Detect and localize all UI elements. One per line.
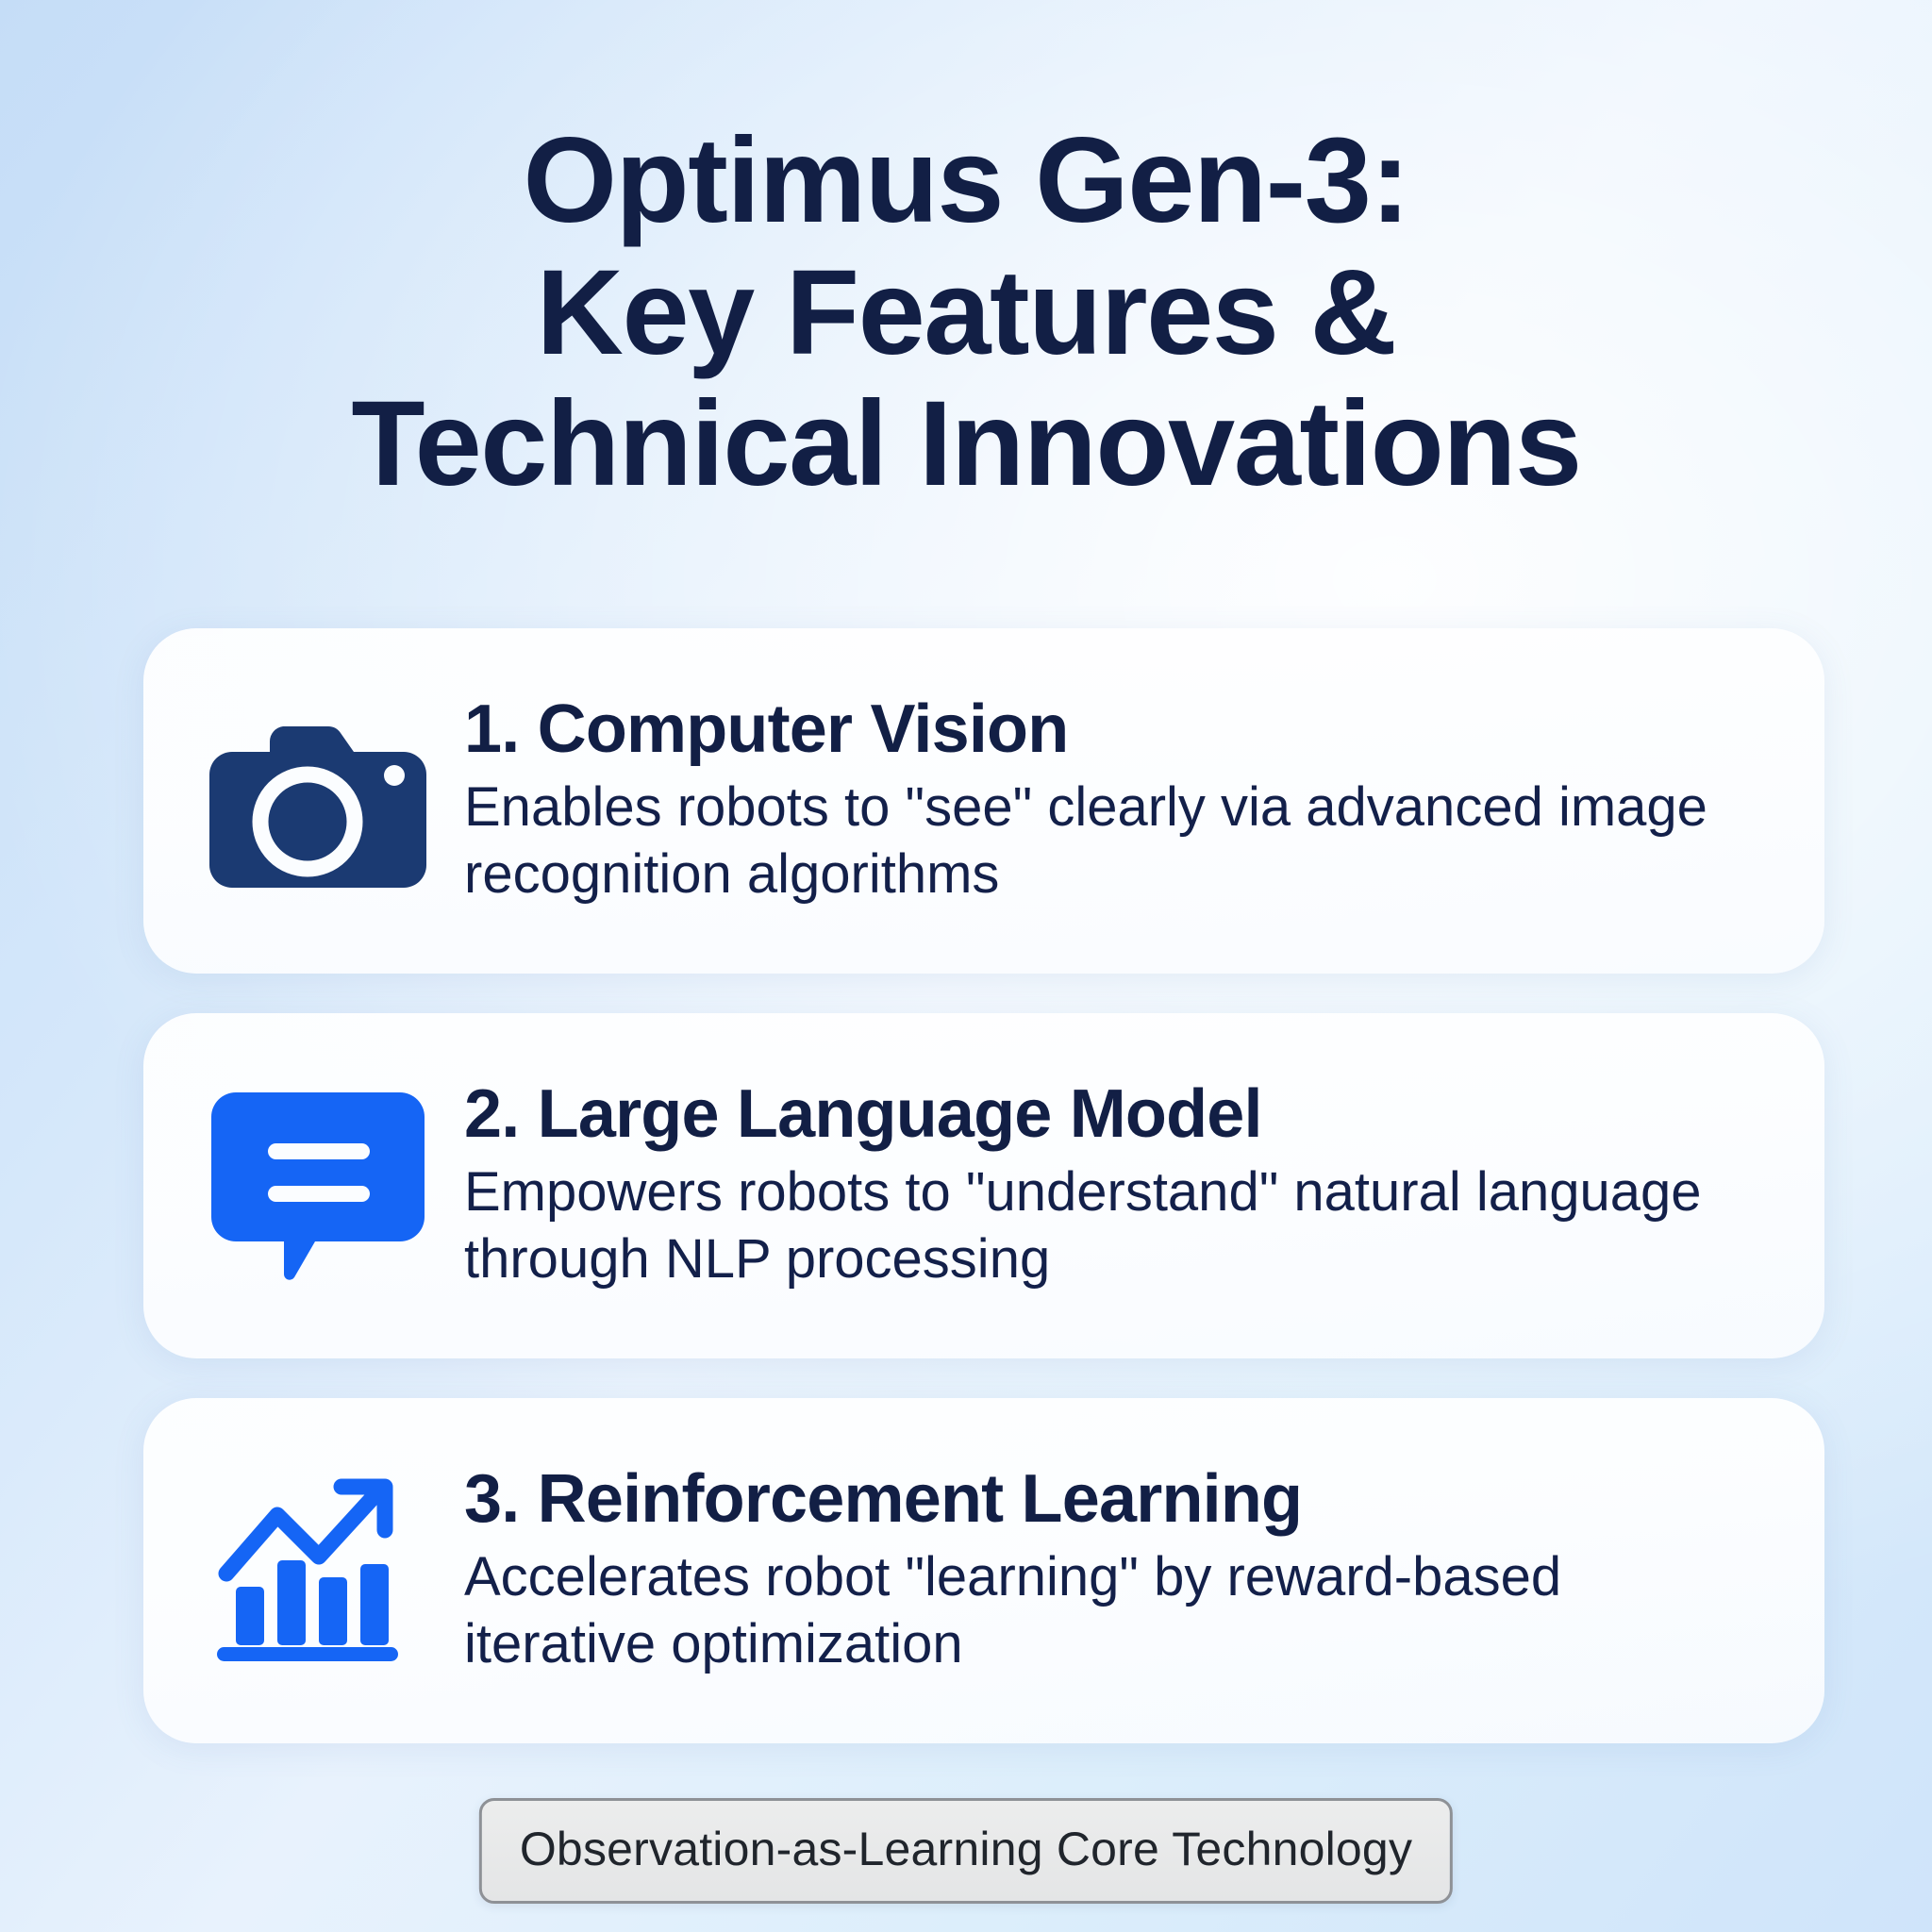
card-body: 3. Reinforcement Learning Accelerates ro… — [464, 1463, 1758, 1678]
status-badge-label: Observation-as-Learning Core Technology — [520, 1823, 1412, 1875]
camera-icon — [200, 683, 436, 919]
feature-card-reinforcement-learning[interactable]: 3. Reinforcement Learning Accelerates ro… — [143, 1398, 1824, 1743]
feature-card-computer-vision[interactable]: 1. Computer Vision Enables robots to "se… — [143, 628, 1824, 974]
card-body: 2. Large Language Model Empowers robots … — [464, 1078, 1758, 1293]
card-heading: 3. Reinforcement Learning — [464, 1463, 1758, 1535]
card-description: Enables robots to "see" clearly via adva… — [464, 774, 1719, 908]
page-title: Optimus Gen-3: Key Features & Technical … — [0, 115, 1932, 510]
growth-chart-icon — [200, 1453, 436, 1689]
infographic-poster: Optimus Gen-3: Key Features & Technical … — [0, 0, 1932, 1932]
title-line-2: Key Features & — [0, 247, 1932, 379]
card-description: Accelerates robot "learning" by reward-b… — [464, 1544, 1719, 1678]
title-line-1: Optimus Gen-3: — [0, 115, 1932, 247]
status-badge[interactable]: Observation-as-Learning Core Technology — [479, 1798, 1453, 1904]
card-heading: 1. Computer Vision — [464, 693, 1758, 765]
card-body: 1. Computer Vision Enables robots to "se… — [464, 693, 1758, 908]
card-description: Empowers robots to "understand" natural … — [464, 1159, 1719, 1293]
title-line-3: Technical Innovations — [0, 378, 1932, 510]
feature-card-large-language-model[interactable]: 2. Large Language Model Empowers robots … — [143, 1013, 1824, 1358]
card-heading: 2. Large Language Model — [464, 1078, 1758, 1150]
chat-bubble-icon — [200, 1068, 436, 1304]
